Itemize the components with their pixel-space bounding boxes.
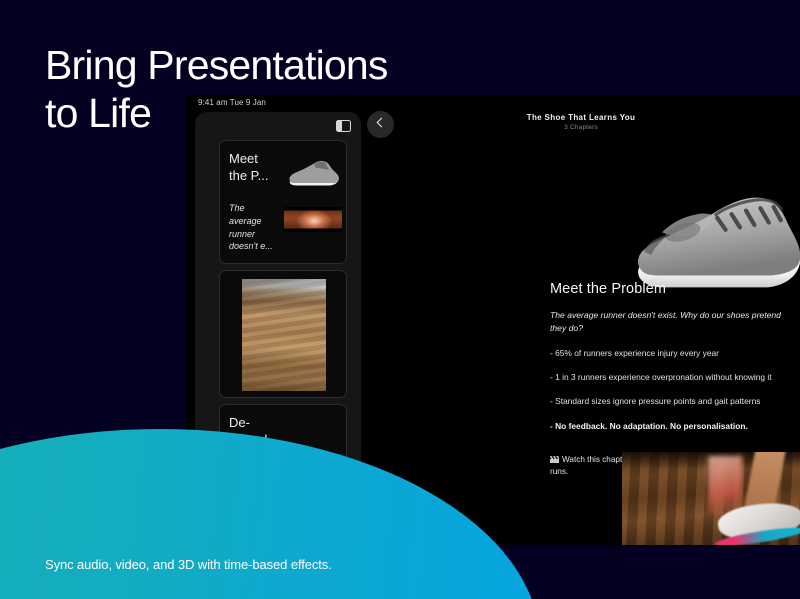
motion-trail xyxy=(708,456,742,514)
promo-caption: Sync audio, video, and 3D with time-base… xyxy=(45,557,332,572)
shoe-thumbnail-image xyxy=(286,155,342,189)
sand-dune-thumbnail-image xyxy=(242,279,326,391)
slide-text-block: Meet the Problem The average runner does… xyxy=(550,281,798,478)
slide-thumbnail[interactable]: Meet the P... The average runner doesn't… xyxy=(219,140,347,264)
film-strip-thumbnail-image xyxy=(284,207,342,232)
slide-canvas: The Shoe That Learns You 3 Chapters xyxy=(362,95,800,545)
slide-bullet: - 1 in 3 runners experience overpronatio… xyxy=(550,372,798,383)
slide-thumbnail-title: Meet the P... xyxy=(229,150,269,185)
deck-header: The Shoe That Learns You 3 Chapters xyxy=(362,113,800,131)
slide-bullet: - Standard sizes ignore pressure points … xyxy=(550,396,798,407)
slide-bullet: - 65% of runners experience injury every… xyxy=(550,348,798,359)
page-title: Bring Presentations to Life xyxy=(45,42,388,138)
deck-title: The Shoe That Learns You xyxy=(362,113,800,122)
slide-thumbnail[interactable] xyxy=(219,270,347,398)
slide-lede: The average runner doesn't exist. Why do… xyxy=(550,309,798,335)
slide-bullet: - No feedback. No adaptation. No persona… xyxy=(550,421,798,432)
deck-subtitle: 3 Chapters xyxy=(362,124,800,131)
slide-thumbnail-subtitle: The average runner doesn't e... xyxy=(229,202,273,253)
slide-heading: Meet the Problem xyxy=(550,281,798,297)
clapperboard-icon xyxy=(550,456,559,463)
runner-motion-photo xyxy=(622,452,800,545)
